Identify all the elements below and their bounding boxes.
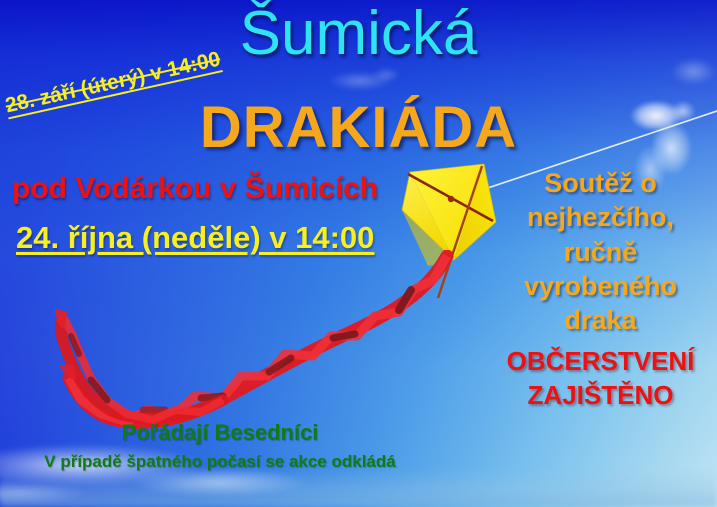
right-info-column: Soutěž o nejhezčího, ručně vyrobeného dr… xyxy=(484,166,717,413)
refreshments-line: OBČERSTVENÍ xyxy=(484,345,717,379)
contest-line: draka xyxy=(484,303,717,337)
horizon-band xyxy=(0,467,717,507)
contest-text: Soutěž o nejhezčího, ručně vyrobeného dr… xyxy=(484,166,717,337)
event-title: DRAKIÁDA xyxy=(0,94,717,161)
refreshments-line: ZAJIŠTĚNO xyxy=(484,379,717,413)
contest-line: ručně xyxy=(484,235,717,269)
contest-line: nejhezčího, xyxy=(484,200,717,234)
kite-festival-poster: Šumická DRAKIÁDA 28. září (úterý) v 14:0… xyxy=(0,0,717,507)
location-text: pod Vodárkou v Šumicích xyxy=(12,172,378,206)
contest-line: Soutěž o xyxy=(484,166,717,200)
event-date-text: 24. října (neděle) v 14:00 xyxy=(16,220,374,256)
weather-note-text: V případě špatného počasí se akce odklád… xyxy=(0,452,440,472)
organizer-text: Pořádají Besedníci xyxy=(0,420,440,446)
contest-line: vyrobeného xyxy=(484,269,717,303)
page-title: Šumická xyxy=(0,0,717,69)
refreshments-text: OBČERSTVENÍ ZAJIŠTĚNO xyxy=(484,345,717,413)
